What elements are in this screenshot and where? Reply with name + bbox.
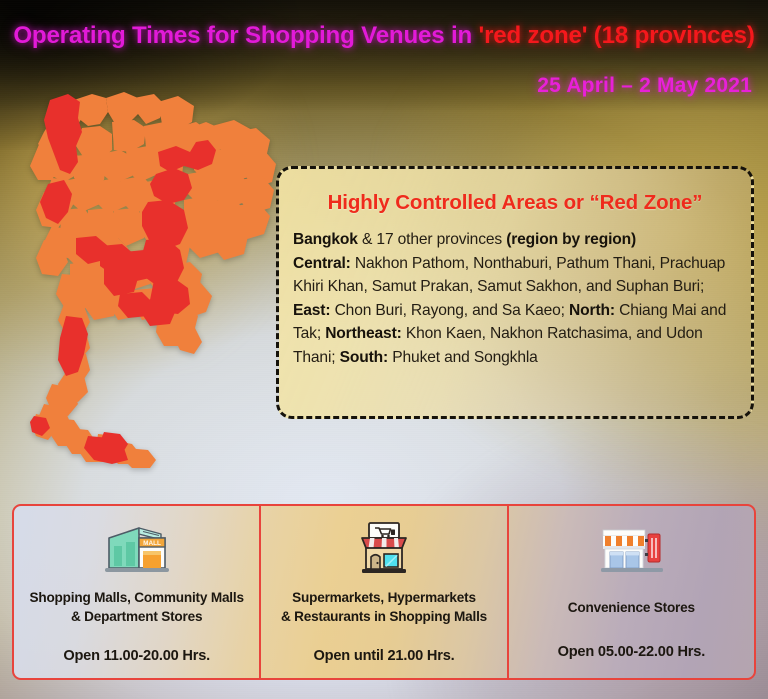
venue-card-hours: Open 11.00-20.00 Hrs.: [63, 648, 210, 666]
svg-text:MALL: MALL: [143, 540, 161, 547]
red-zone-province-list: Bangkok & 17 other provinces (region by …: [293, 228, 737, 370]
intro-rest-text: & 17 other provinces: [358, 231, 506, 248]
convenience-store-icon: [593, 518, 669, 580]
region-label-northeast: Northeast:: [325, 325, 401, 342]
venue-card-shopping-malls: MALL Shopping Malls, Community Malls & D…: [14, 506, 259, 678]
red-zone-heading: Highly Controlled Areas or “Red Zone”: [293, 191, 737, 215]
venue-title-line1: Shopping Malls, Community Malls: [29, 590, 243, 605]
shopping-mall-icon: MALL: [99, 518, 175, 580]
page-title: Operating Times for Shopping Venues in '…: [0, 24, 768, 49]
venue-card-title: Convenience Stores: [568, 598, 695, 617]
venue-card-title: Shopping Malls, Community Malls & Depart…: [29, 588, 243, 626]
venue-card-hours: Open 05.00-22.00 Hrs.: [558, 644, 706, 666]
region-provinces-south: Phuket and Songkhla: [388, 349, 538, 366]
supermarket-store-icon: [349, 518, 419, 580]
venue-card-hours: Open until 21.00 Hrs.: [314, 648, 455, 666]
venue-card-supermarkets: Supermarkets, Hypermarkets & Restaurants…: [259, 506, 506, 678]
venue-cards-strip: MALL Shopping Malls, Community Malls & D…: [12, 504, 756, 680]
region-label-north: North:: [569, 302, 615, 319]
title-main-text: Operating Times for Shopping Venues in: [13, 22, 478, 49]
venue-title-line2: & Department Stores: [71, 609, 202, 624]
thailand-map: [8, 88, 280, 468]
region-by-region-label: (region by region): [506, 231, 636, 248]
title-red-zone-text: 'red zone' (18 provinces): [479, 22, 755, 49]
bangkok-label: Bangkok: [293, 231, 358, 248]
venue-title-line1: Supermarkets, Hypermarkets: [292, 590, 476, 605]
venue-card-convenience-stores: Convenience Stores Open 05.00-22.00 Hrs.: [507, 506, 754, 678]
region-provinces-central: Nakhon Pathom, Nonthaburi, Pathum Thani,…: [293, 255, 725, 296]
venue-title-line2: & Restaurants in Shopping Malls: [281, 609, 487, 624]
region-provinces-east: Chon Buri, Rayong, and Sa Kaeo;: [330, 302, 569, 319]
region-label-central: Central:: [293, 255, 351, 272]
date-range-subtitle: 25 April – 2 May 2021: [537, 74, 752, 98]
region-label-south: South:: [340, 349, 388, 366]
infographic-poster: Operating Times for Shopping Venues in '…: [0, 0, 768, 699]
venue-card-title: Supermarkets, Hypermarkets & Restaurants…: [281, 588, 487, 626]
venue-title-line1: Convenience Stores: [568, 600, 695, 615]
red-zone-info-box: Highly Controlled Areas or “Red Zone” Ba…: [276, 166, 754, 419]
region-label-east: East:: [293, 302, 330, 319]
